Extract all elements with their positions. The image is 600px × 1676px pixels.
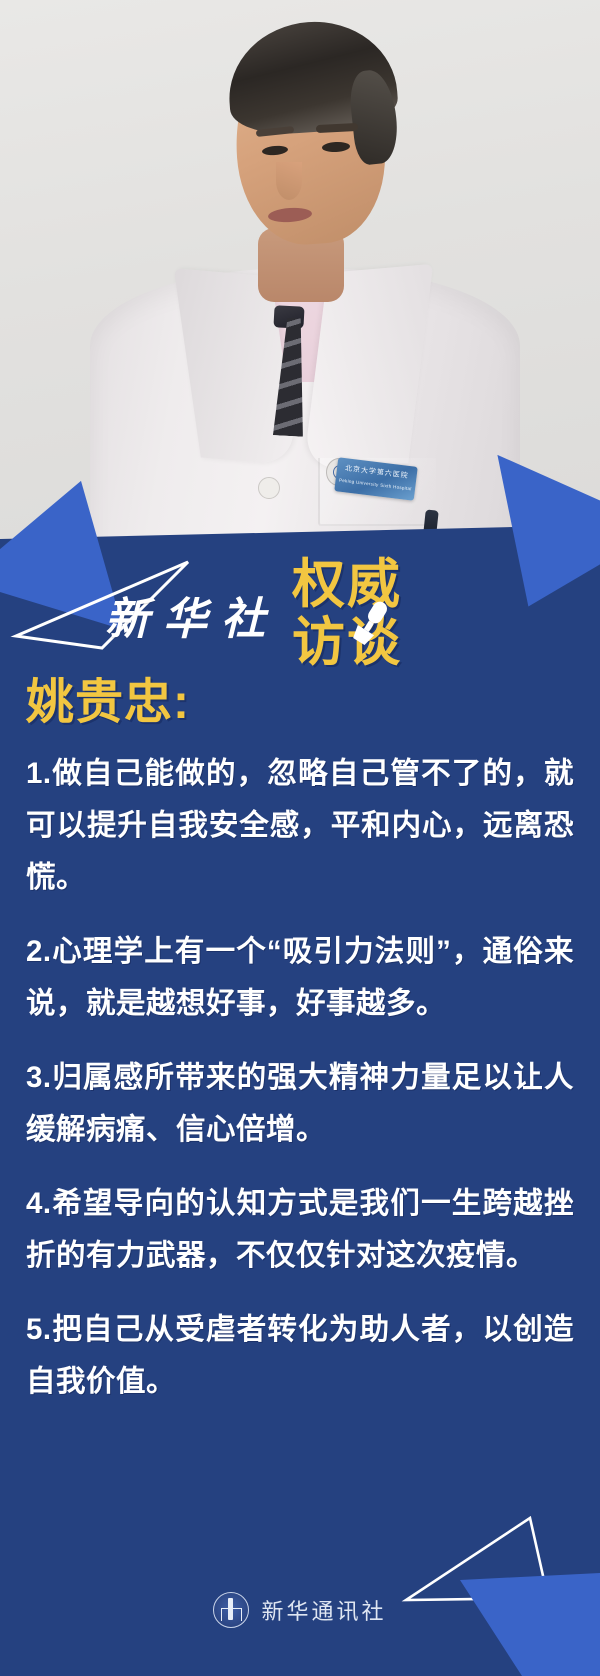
footer: 新华通讯社 <box>0 1580 600 1640</box>
nose <box>276 162 302 200</box>
points-list: 1.做自己能做的，忽略自己管不了的，就可以提升自我安全感，平和内心，远离恐慌。 … <box>26 748 574 1430</box>
coat-button <box>258 477 280 499</box>
xinhua-script-wordmark: 新华社 <box>105 585 285 655</box>
point-item: 4.希望导向的认知方式是我们一生跨越挫折的有力武器，不仅仅针对这次疫情。 <box>26 1178 574 1282</box>
agency-name: 新华通讯社 <box>261 1594 386 1626</box>
point-item: 5.把自己从受虐者转化为助人者，以创造自我价值。 <box>26 1304 574 1408</box>
point-item: 3.归属感所带来的强大精神力量足以让人缓解病痛、信心倍增。 <box>26 1052 574 1156</box>
speaker-name: 姚贵忠: <box>26 672 190 734</box>
xinhua-agency-logo-icon <box>213 1592 249 1628</box>
poster-root: 北京大学第六医院 Peking University Sixth Hospita… <box>0 0 600 1676</box>
headline-quanwei-fangtan: 权威 访谈 <box>292 556 472 676</box>
point-item: 2.心理学上有一个“吸引力法则”，通俗来说，就是越想好事，好事越多。 <box>26 926 574 1030</box>
point-item: 1.做自己能做的，忽略自己管不了的，就可以提升自我安全感，平和内心，远离恐慌。 <box>26 748 574 904</box>
